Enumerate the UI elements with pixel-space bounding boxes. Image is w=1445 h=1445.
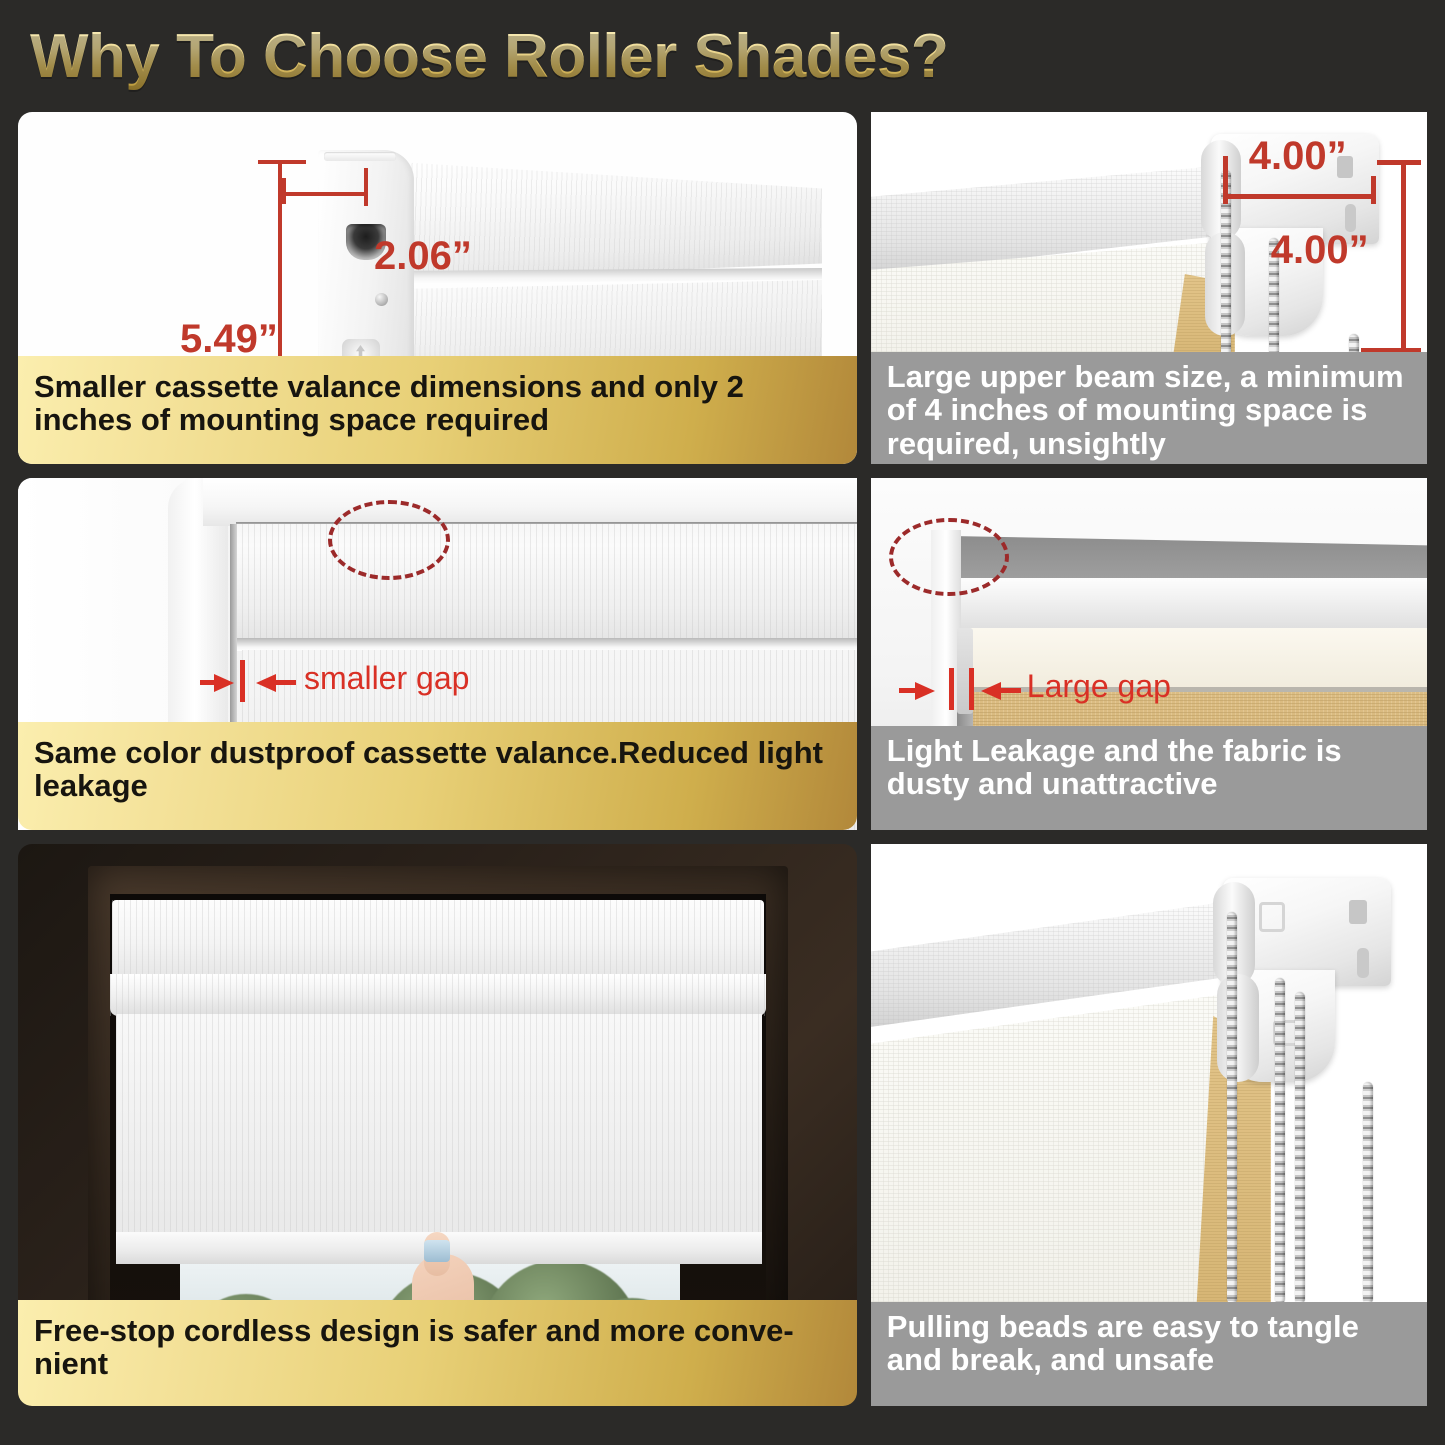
- panel-4-caption-text: Light Leakage and the fabric is dusty an…: [887, 734, 1411, 801]
- cassette-valance: [112, 900, 764, 978]
- gap-arrow-right-tail: [274, 680, 296, 685]
- panel-3-image: smaller gap Same color dustproof cassett…: [18, 478, 857, 830]
- panel-1-caption: Smaller cassette valance dimensions and …: [18, 356, 857, 464]
- panel-light-leakage[interactable]: Large gap Light Leakage and the fabric i…: [871, 478, 1427, 830]
- bracket-arrow-glyph-upper: [1259, 902, 1285, 932]
- panel-6-image: Pulling beads are easy to tangle and bre…: [871, 844, 1427, 1406]
- grid-row-3: Free-stop cordless design is safer and m…: [18, 844, 1427, 1406]
- width-dimension-label: 2.06”: [374, 234, 472, 279]
- panel-3-caption-text: Same color dustproof cassette valance.Re…: [34, 736, 841, 803]
- grid-row-1: 5.49” 2.06” Smaller cassette valance dim…: [18, 112, 1427, 464]
- width-dimension-line: [282, 192, 368, 196]
- panel-large-upper-beam[interactable]: 4.00” 4.00” Large upper beam size, a min…: [871, 112, 1427, 464]
- panel-2-image: 4.00” 4.00” Large upper beam size, a min…: [871, 112, 1427, 464]
- panel-6-caption: Pulling beads are easy to tangle and bre…: [871, 1302, 1427, 1406]
- bracket-slot-upper: [1349, 900, 1367, 924]
- panel-smaller-cassette[interactable]: 5.49” 2.06” Smaller cassette valance dim…: [18, 112, 857, 464]
- beam-width-tick-left: [1223, 156, 1228, 204]
- panel-cordless-design[interactable]: Free-stop cordless design is safer and m…: [18, 844, 857, 1406]
- screw-head: [375, 293, 388, 306]
- comparison-grid: 5.49” 2.06” Smaller cassette valance dim…: [0, 112, 1445, 1406]
- gap-marker-bar-2: [969, 668, 974, 710]
- shade-handle[interactable]: [424, 1240, 450, 1262]
- window-frame: [88, 866, 788, 1364]
- gap-arrow-right-icon: [256, 674, 276, 692]
- panel-pulling-beads[interactable]: Pulling beads are easy to tangle and bre…: [871, 844, 1427, 1406]
- highlight-ellipse-icon: [889, 518, 1009, 596]
- gap-callout-label: smaller gap: [304, 660, 469, 697]
- gap-arrow-right-icon: [981, 682, 1001, 700]
- bracket-roller-disc-lower: [1217, 974, 1259, 1082]
- shade-fabric-white: [871, 992, 1241, 1322]
- beam-width-tick-right: [1371, 176, 1376, 204]
- beam-width-dimension-line: [1223, 194, 1375, 199]
- window-head-casing: [203, 478, 857, 526]
- panel-4-caption: Light Leakage and the fabric is dusty an…: [871, 726, 1427, 830]
- panel-5-caption: Free-stop cordless design is safer and m…: [18, 1300, 857, 1406]
- bead-chain-2: [1275, 978, 1285, 1304]
- highlight-ellipse-icon: [328, 500, 450, 580]
- width-dimension-tick-right: [364, 168, 368, 206]
- beam-width-label: 4.00”: [1249, 134, 1347, 179]
- gap-marker-bar: [949, 668, 954, 710]
- panel-5-caption-text: Free-stop cordless design is safer and m…: [34, 1314, 841, 1381]
- height-dimension-tick-top: [258, 160, 306, 164]
- gap-marker-bar: [240, 660, 245, 702]
- shade-fabric: [116, 1014, 762, 1236]
- grid-row-2: smaller gap Same color dustproof cassett…: [18, 478, 1427, 830]
- beam-height-dimension-line: [1401, 160, 1406, 352]
- page-title: Why To Choose Roller Shades?: [30, 21, 948, 92]
- panel-3-caption: Same color dustproof cassette valance.Re…: [18, 722, 857, 830]
- bead-chain-3: [1295, 992, 1305, 1304]
- gap-callout-label: Large gap: [1027, 668, 1171, 705]
- panel-2-caption: Large upper beam size, a minimum of 4 in…: [871, 352, 1427, 464]
- gap-arrow-left-tail: [899, 688, 919, 693]
- header-bar: Why To Choose Roller Shades?: [0, 0, 1445, 112]
- panel-1-image: 5.49” 2.06” Smaller cassette valance dim…: [18, 112, 857, 464]
- gap-arrow-right-tail: [999, 688, 1021, 693]
- gap-arrow-left-tail: [200, 680, 220, 685]
- panel-1-caption-text: Smaller cassette valance dimensions and …: [34, 370, 841, 437]
- panel-5-image: Free-stop cordless design is safer and m…: [18, 844, 857, 1406]
- panel-4-image: Large gap Light Leakage and the fabric i…: [871, 478, 1427, 830]
- beam-height-label: 4.00”: [1271, 228, 1369, 273]
- bead-chain-1: [1227, 912, 1237, 1304]
- bracket-slot-lower: [1357, 948, 1369, 978]
- panel-6-caption-text: Pulling beads are easy to tangle and bre…: [887, 1310, 1411, 1377]
- bead-chain-4: [1363, 1082, 1373, 1304]
- panel-2-caption-text: Large upper beam size, a minimum of 4 in…: [887, 360, 1411, 460]
- width-dimension-tick-left: [282, 178, 286, 204]
- panel-dustproof-valance[interactable]: smaller gap Same color dustproof cassett…: [18, 478, 857, 830]
- roller-tube: [110, 974, 766, 1016]
- beam-height-tick-top: [1377, 160, 1421, 165]
